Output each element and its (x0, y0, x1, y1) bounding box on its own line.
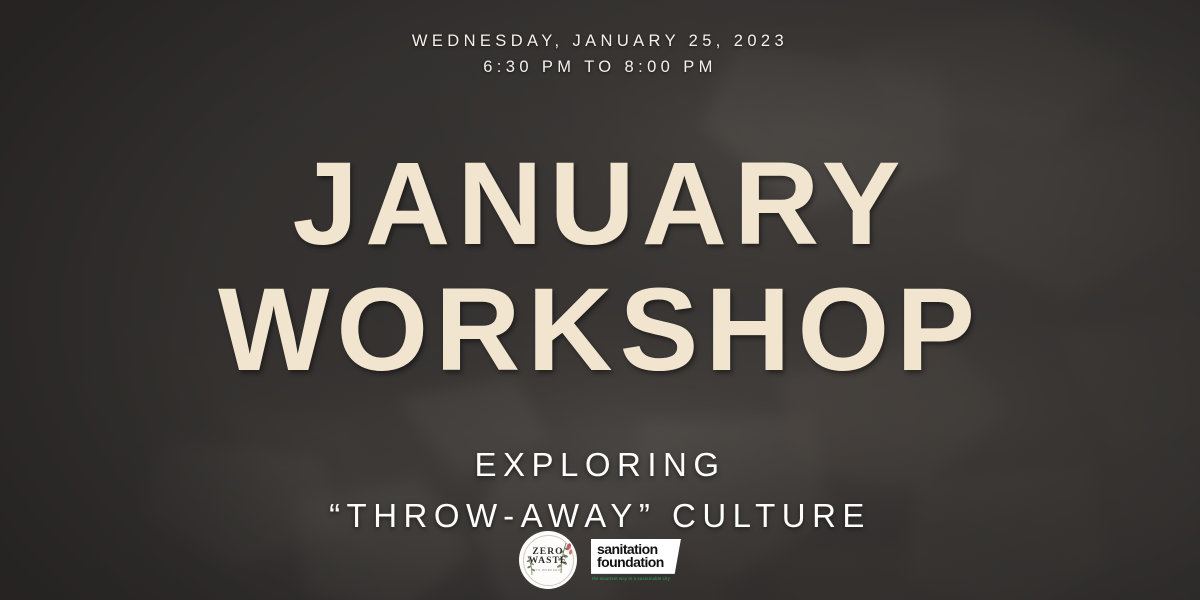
event-subtitle: EXPLORING “THROW-AWAY” CULTURE (329, 439, 871, 541)
title-line-2: WORKSHOP (218, 267, 982, 393)
event-time: 6:30 PM TO 8:00 PM (412, 54, 788, 80)
event-banner: WEDNESDAY, JANUARY 25, 2023 6:30 PM TO 8… (0, 0, 1200, 600)
banner-content: WEDNESDAY, JANUARY 25, 2023 6:30 PM TO 8… (0, 0, 1200, 600)
subtitle-line-1: EXPLORING (329, 439, 871, 490)
title-line-1: JANUARY (218, 141, 982, 267)
event-datetime: WEDNESDAY, JANUARY 25, 2023 6:30 PM TO 8… (412, 28, 788, 81)
event-date: WEDNESDAY, JANUARY 25, 2023 (412, 28, 788, 54)
event-title: JANUARY WORKSHOP (218, 141, 982, 394)
subtitle-line-2: “THROW-AWAY” CULTURE (329, 490, 871, 541)
